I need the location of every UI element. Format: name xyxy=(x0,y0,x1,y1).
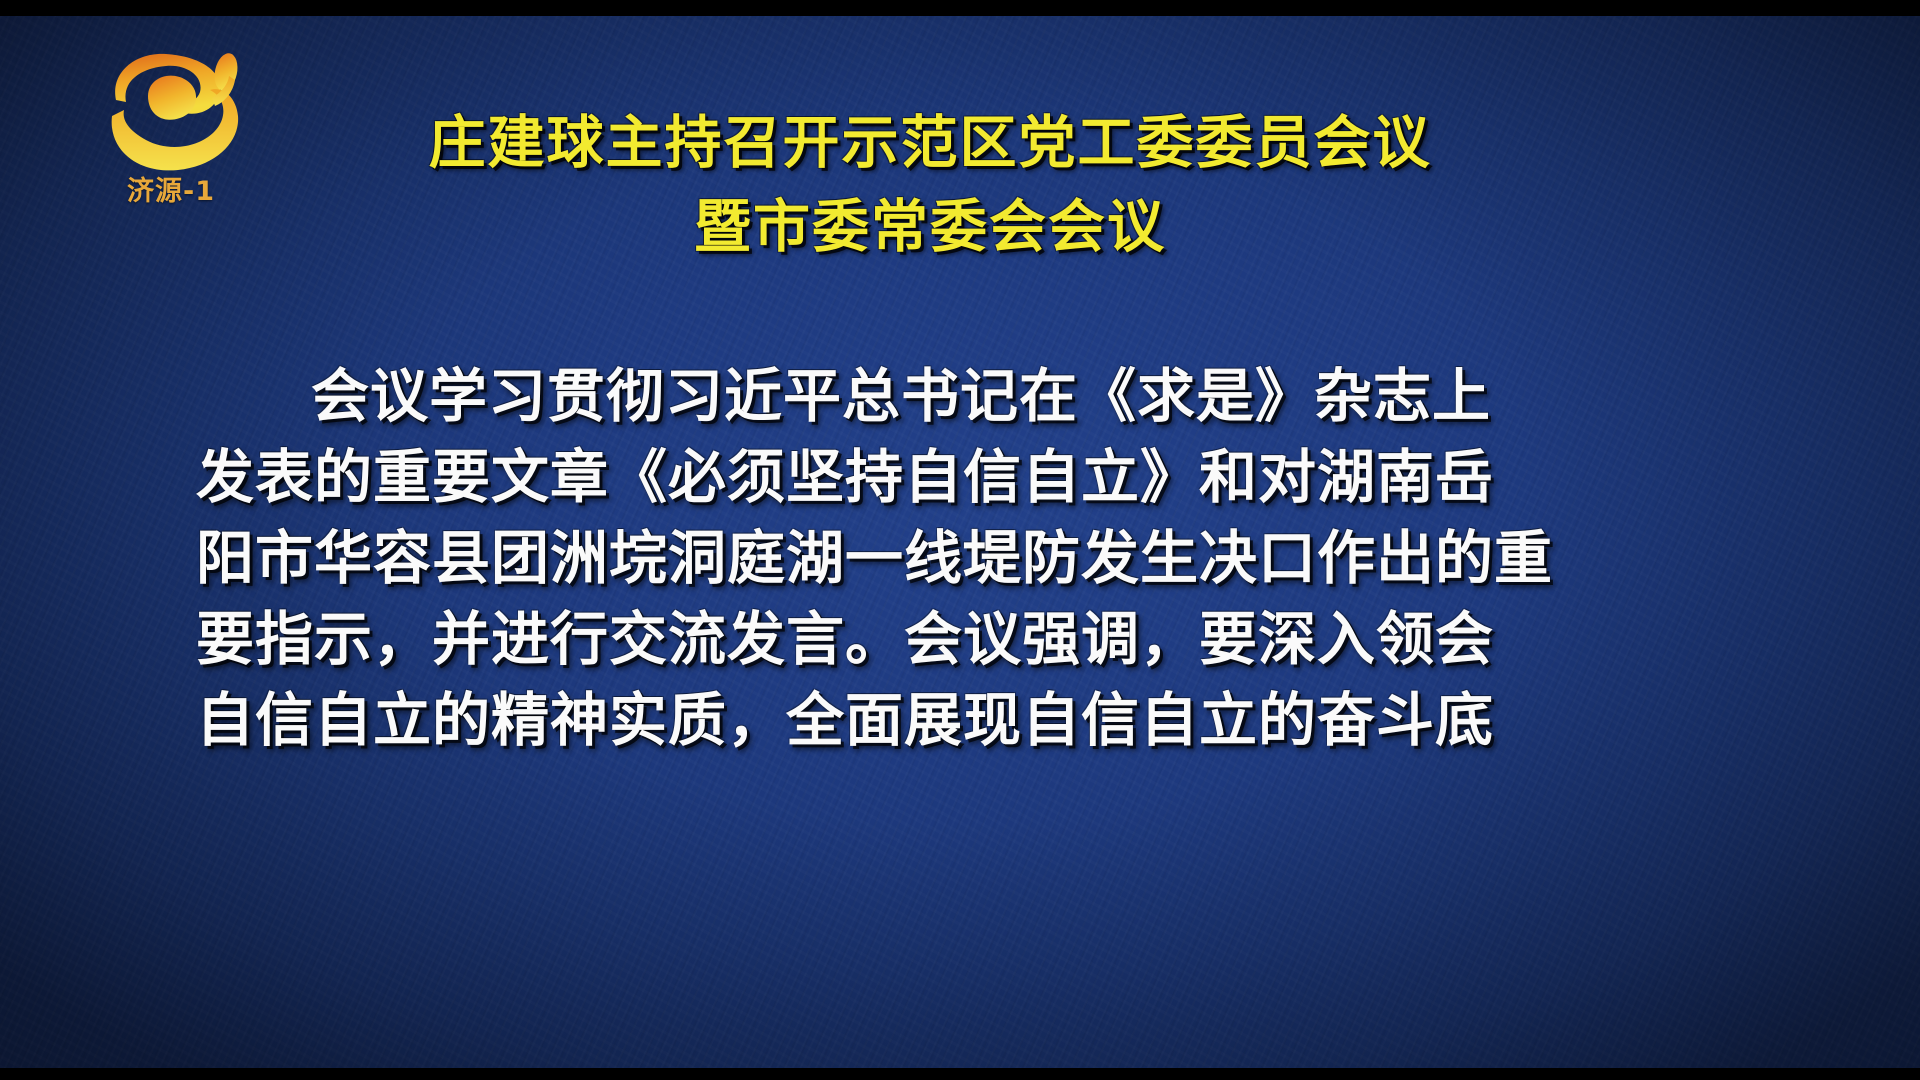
headline-line-1: 庄建球主持召开示范区党工委委员会议 xyxy=(250,108,1610,178)
news-body-line: 阳市华容县团洲垸洞庭湖一线堤防发生决口作出的重 xyxy=(196,518,1396,599)
channel-logo-label: 济源-1 xyxy=(86,169,256,208)
broadcast-background: 济源-1 庄建球主持召开示范区党工委委员会议 暨市委常委会会议 会议学习贯彻习近… xyxy=(0,16,1920,1068)
headline-line-2: 暨市委常委会会议 xyxy=(250,192,1610,262)
channel-logo: 济源-1 xyxy=(86,38,256,208)
letterbox-bar-bottom xyxy=(0,1068,1920,1080)
news-body-line: 自信自立的精神实质，全面展现自信自立的奋斗底 xyxy=(196,680,1396,761)
broadcast-screen: 济源-1 庄建球主持召开示范区党工委委员会议 暨市委常委会会议 会议学习贯彻习近… xyxy=(0,0,1920,1080)
news-body-line: 发表的重要文章《必须坚持自信自立》和对湖南岳 xyxy=(196,437,1396,518)
news-body-line: 会议学习贯彻习近平总书记在《求是》杂志上 xyxy=(196,356,1396,437)
phoenix-flame-logo-icon xyxy=(86,38,256,178)
headline: 庄建球主持召开示范区党工委委员会议 暨市委常委会会议 xyxy=(250,108,1610,262)
letterbox-bar-top xyxy=(0,0,1920,16)
news-body-line: 要指示，并进行交流发言。会议强调，要深入领会 xyxy=(196,599,1396,680)
news-body-text: 会议学习贯彻习近平总书记在《求是》杂志上 发表的重要文章《必须坚持自信自立》和对… xyxy=(196,356,1396,761)
